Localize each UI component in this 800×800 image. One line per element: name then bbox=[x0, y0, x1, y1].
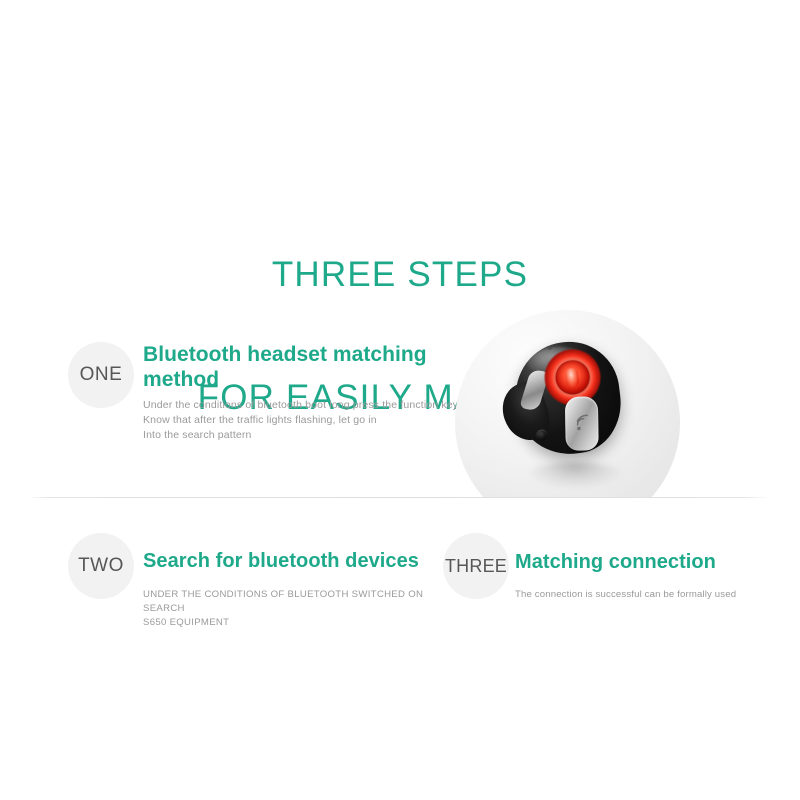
product-reflection bbox=[527, 462, 623, 488]
step-one-badge: ONE bbox=[68, 342, 134, 408]
step-one-title: Bluetooth headset matching method bbox=[143, 342, 443, 392]
step-three-body: The connection is successful can be form… bbox=[515, 588, 780, 602]
headset-led-core bbox=[565, 368, 580, 388]
step-two-badge: TWO bbox=[68, 533, 134, 599]
step-two-title: Search for bluetooth devices bbox=[143, 549, 443, 574]
step-two-body: UNDER THE CONDITIONS OF BLUETOOTH SWITCH… bbox=[143, 588, 453, 630]
sound-wave-icon bbox=[574, 414, 592, 432]
bluetooth-headset-illustration bbox=[495, 330, 642, 480]
step-three-badge: THREE bbox=[443, 533, 509, 599]
page-root: THREE STEPS FOR EASILY MATCHED ONE Bluet… bbox=[0, 0, 800, 800]
product-bottom-mask bbox=[455, 497, 680, 535]
product-image bbox=[455, 310, 680, 535]
page-title-line-1: THREE STEPS bbox=[0, 254, 800, 295]
page-title: THREE STEPS FOR EASILY MATCHED bbox=[0, 172, 800, 500]
step-one-body: Under the conditions of bluetooth boot l… bbox=[143, 398, 463, 443]
step-three-title: Matching connection bbox=[515, 550, 775, 575]
section-divider bbox=[28, 497, 771, 498]
